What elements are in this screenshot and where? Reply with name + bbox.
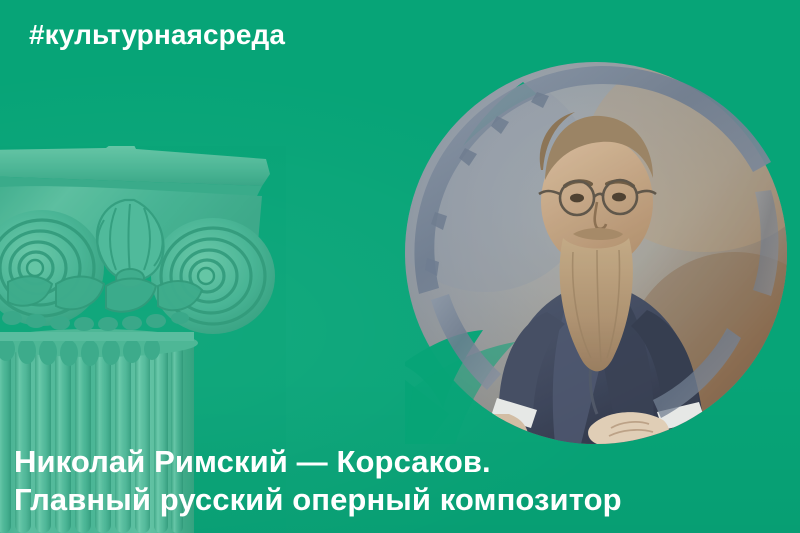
poster-canvas: Николай Римский — Корсаков. Главный русс… bbox=[0, 0, 800, 533]
title-line-2: Главный русский оперный композитор bbox=[14, 481, 774, 519]
page-title: Николай Римский — Корсаков. Главный русс… bbox=[14, 443, 774, 519]
hashtag-label: #культурнаясреда bbox=[29, 19, 285, 51]
title-line-1: Николай Римский — Корсаков. bbox=[14, 443, 774, 481]
portrait-svg bbox=[405, 62, 787, 444]
portrait-figure bbox=[405, 62, 787, 444]
